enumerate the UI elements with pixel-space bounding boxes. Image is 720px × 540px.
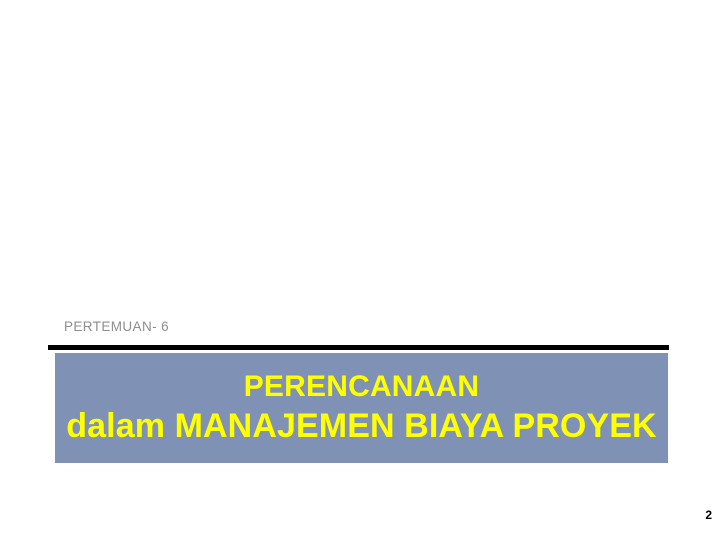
page-number: 2 — [705, 508, 712, 522]
slide-content-area — [0, 0, 720, 310]
horizontal-rule-divider — [48, 345, 669, 350]
slide-eyebrow-label: PERTEMUAN- 6 — [64, 318, 169, 336]
slide-title-line-1: PERENCANAAN — [244, 369, 480, 405]
title-block: PERENCANAAN dalam MANAJEMEN BIAYA PROYEK — [55, 353, 668, 463]
slide-title-line-2: dalam MANAJEMEN BIAYA PROYEK — [66, 405, 656, 447]
slide: PERTEMUAN- 6 PERENCANAAN dalam MANAJEMEN… — [0, 0, 720, 540]
